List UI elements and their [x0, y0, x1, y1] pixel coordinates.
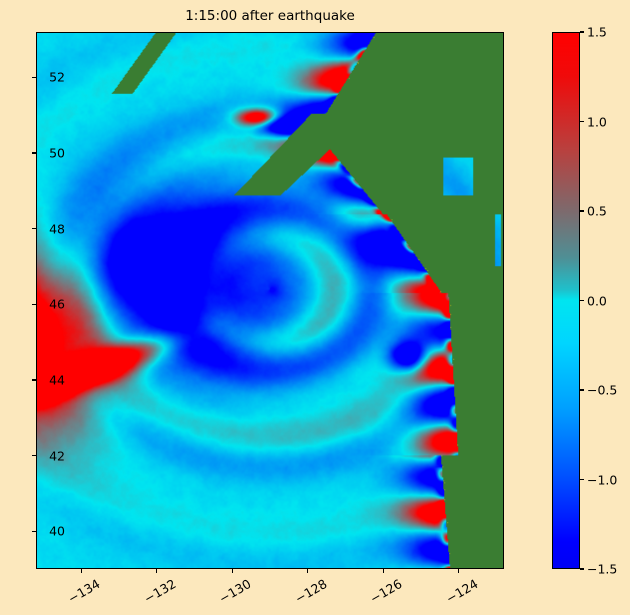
- y-tick-label: 52: [49, 70, 65, 85]
- y-tick-mark: [32, 77, 36, 78]
- colorbar-tick-label: 1.0: [587, 114, 607, 129]
- x-tick-label: −126: [367, 576, 404, 606]
- x-tick-mark: [156, 569, 157, 573]
- colorbar-tick-mark: [580, 568, 584, 569]
- colorbar-tick-mark: [580, 31, 584, 32]
- y-tick-label: 46: [49, 297, 65, 312]
- y-tick-mark: [32, 379, 36, 380]
- x-tick-label: −130: [217, 576, 254, 606]
- x-tick-mark: [307, 569, 308, 573]
- x-tick-label: −124: [443, 576, 480, 606]
- colorbar-tick-label: −0.5: [587, 383, 617, 398]
- x-tick-mark: [81, 569, 82, 573]
- y-tick-mark: [32, 228, 36, 229]
- y-tick-label: 50: [49, 146, 65, 161]
- y-tick-label: 48: [49, 221, 65, 236]
- colorbar-tick-label: 0.0: [587, 293, 607, 308]
- x-tick-mark: [232, 569, 233, 573]
- x-tick-label: −134: [66, 576, 103, 606]
- y-tick-label: 44: [49, 372, 65, 387]
- colorbar[interactable]: [552, 32, 580, 569]
- y-tick-mark: [32, 304, 36, 305]
- y-tick-mark: [32, 455, 36, 456]
- y-tick-mark: [32, 152, 36, 153]
- colorbar-tick-mark: [580, 389, 584, 390]
- map-axes[interactable]: [36, 32, 504, 569]
- colorbar-tick-mark: [580, 121, 584, 122]
- colorbar-tick-mark: [580, 300, 584, 301]
- x-tick-label: −128: [292, 576, 329, 606]
- colorbar-tick-label: 0.5: [587, 204, 607, 219]
- y-tick-label: 40: [49, 524, 65, 539]
- colorbar-tick-label: −1.0: [587, 472, 617, 487]
- x-tick-label: −132: [141, 576, 178, 606]
- x-tick-mark: [383, 569, 384, 573]
- colorbar-tick-label: −1.5: [587, 562, 617, 577]
- page-title: 1:15:00 after earthquake: [36, 6, 504, 26]
- colorbar-tick-label: 1.5: [587, 25, 607, 40]
- colorbar-tick-mark: [580, 479, 584, 480]
- x-tick-mark: [458, 569, 459, 573]
- y-tick-mark: [32, 531, 36, 532]
- tsunami-figure: 1:15:00 after earthquake 40424446485052 …: [0, 0, 630, 615]
- y-tick-label: 42: [49, 448, 65, 463]
- colorbar-tick-mark: [580, 210, 584, 211]
- wave-height-heatmap: [37, 33, 503, 568]
